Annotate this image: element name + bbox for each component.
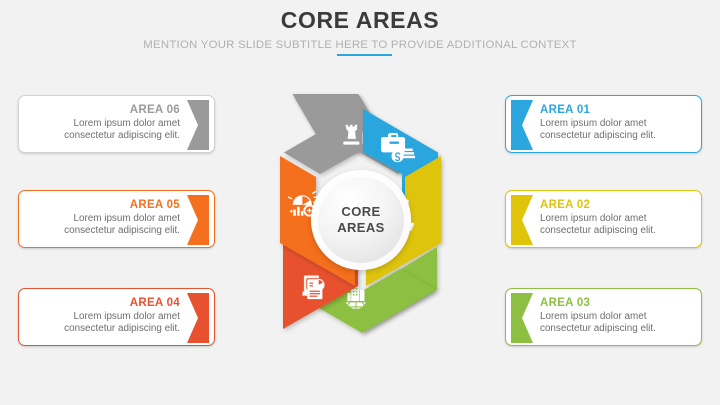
card-area-06[interactable]: AREA 06 Lorem ipsum dolor amet consectet… (18, 95, 215, 153)
card-title-01: AREA 01 (540, 103, 693, 117)
card-body-01: Lorem ipsum dolor amet consectetur adipi… (540, 118, 693, 143)
card-text-05: AREA 05 Lorem ipsum dolor amet consectet… (27, 198, 180, 238)
hexagon-wheel: CORE AREAS (228, 86, 493, 354)
card-ribbon-04 (187, 293, 209, 343)
subtitle-underline (337, 54, 392, 56)
card-area-02[interactable]: AREA 02 Lorem ipsum dolor amet consectet… (505, 190, 702, 248)
center-hub-line2: AREAS (337, 220, 385, 236)
card-body-06: Lorem ipsum dolor amet consectetur adipi… (27, 118, 180, 143)
card-ribbon-06 (187, 100, 209, 150)
card-body-02: Lorem ipsum dolor amet consectetur adipi… (540, 213, 693, 238)
card-body-04: Lorem ipsum dolor amet consectetur adipi… (27, 311, 180, 336)
card-ribbon-02 (511, 195, 533, 245)
card-text-04: AREA 04 Lorem ipsum dolor amet consectet… (27, 296, 180, 336)
card-title-05: AREA 05 (27, 198, 180, 212)
card-text-06: AREA 06 Lorem ipsum dolor amet consectet… (27, 103, 180, 143)
card-title-02: AREA 02 (540, 198, 693, 212)
card-title-03: AREA 03 (540, 296, 693, 310)
page-title: CORE AREAS (0, 7, 720, 34)
card-ribbon-05 (187, 195, 209, 245)
center-hub-label: CORE AREAS (337, 204, 385, 236)
card-ribbon-01 (511, 100, 533, 150)
card-ribbon-03 (511, 293, 533, 343)
card-area-01[interactable]: AREA 01 Lorem ipsum dolor amet consectet… (505, 95, 702, 153)
card-body-03: Lorem ipsum dolor amet consectetur adipi… (540, 311, 693, 336)
card-title-04: AREA 04 (27, 296, 180, 310)
center-hub: CORE AREAS (311, 170, 411, 270)
card-body-05: Lorem ipsum dolor amet consectetur adipi… (27, 213, 180, 238)
card-text-03: AREA 03 Lorem ipsum dolor amet consectet… (540, 296, 693, 336)
card-title-06: AREA 06 (27, 103, 180, 117)
card-area-05[interactable]: AREA 05 Lorem ipsum dolor amet consectet… (18, 190, 215, 248)
slide-canvas: CORE AREAS MENTION YOUR SLIDE SUBTITLE H… (0, 0, 720, 405)
card-area-04[interactable]: AREA 04 Lorem ipsum dolor amet consectet… (18, 288, 215, 346)
card-area-03[interactable]: AREA 03 Lorem ipsum dolor amet consectet… (505, 288, 702, 346)
card-text-01: AREA 01 Lorem ipsum dolor amet consectet… (540, 103, 693, 143)
page-subtitle: MENTION YOUR SLIDE SUBTITLE HERE TO PROV… (0, 39, 720, 51)
card-text-02: AREA 02 Lorem ipsum dolor amet consectet… (540, 198, 693, 238)
center-hub-line1: CORE (337, 204, 385, 220)
